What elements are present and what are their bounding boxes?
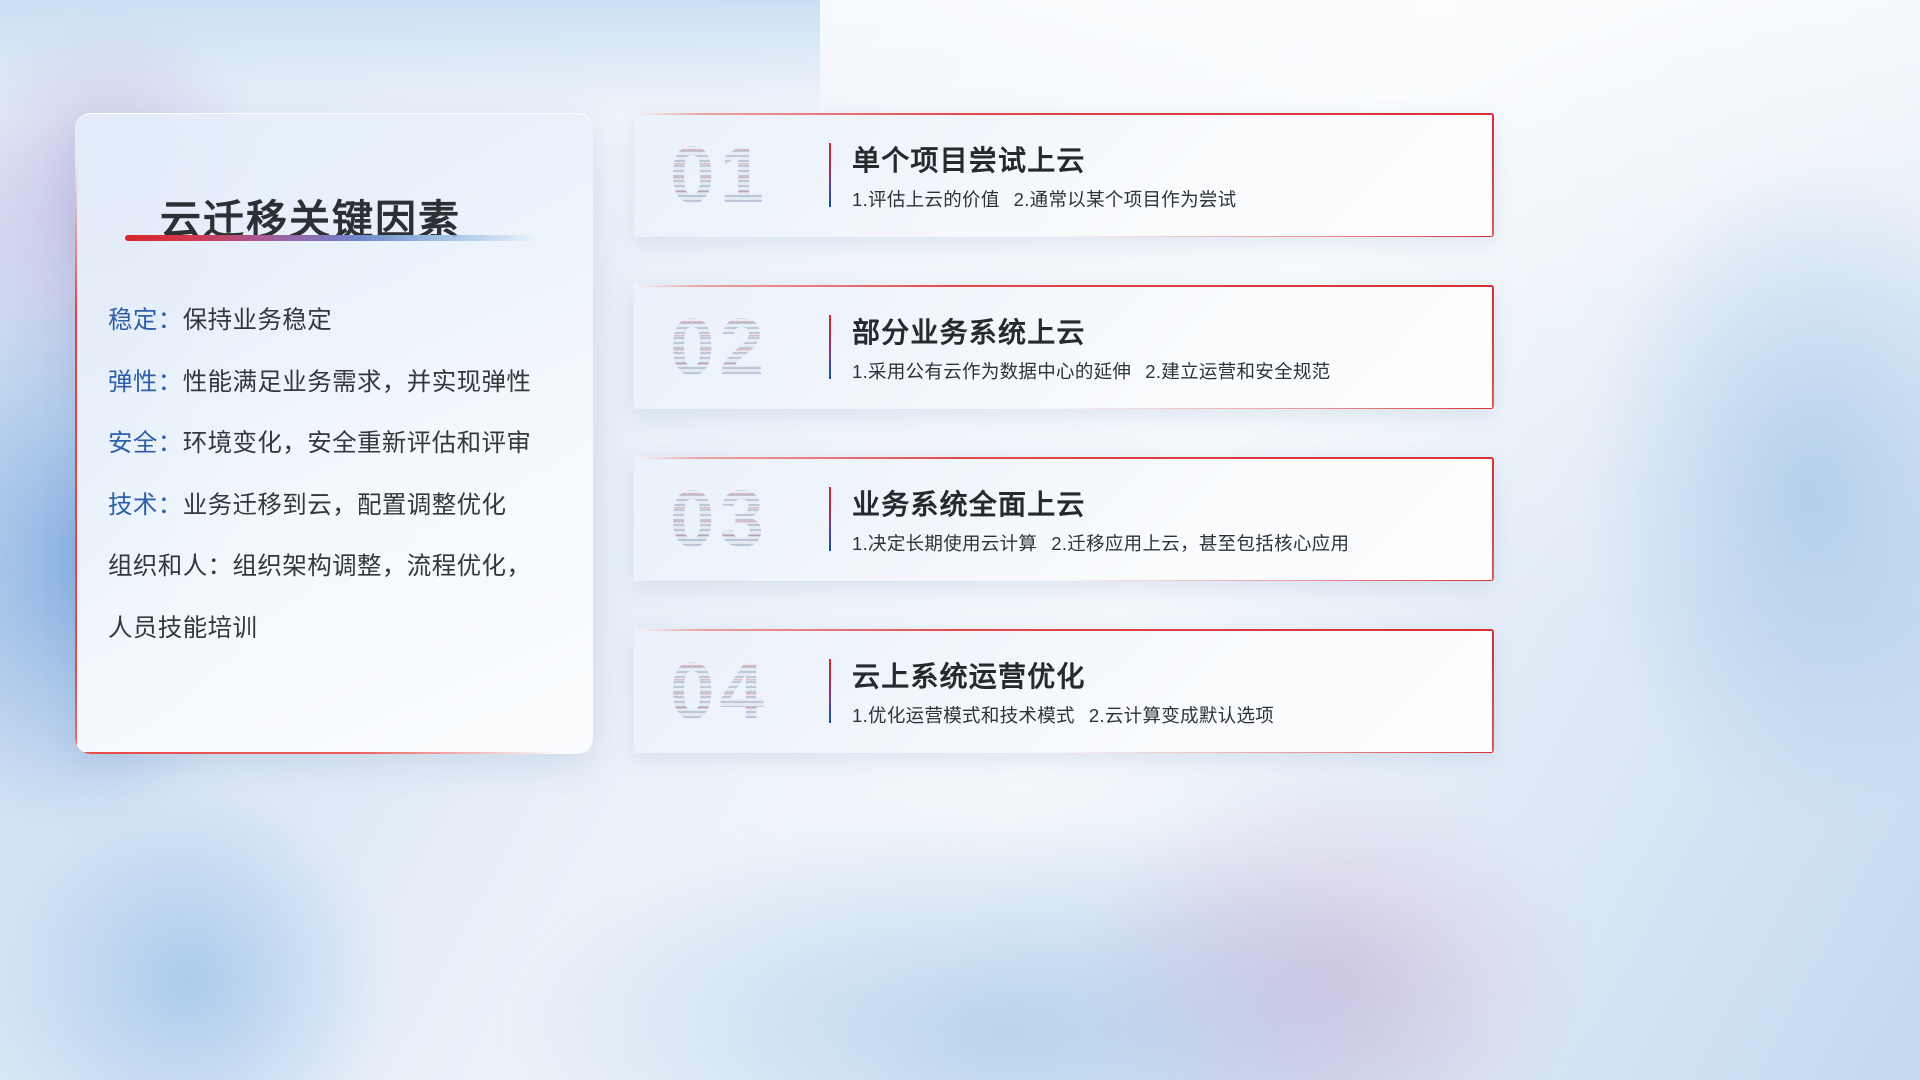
stage-number-01: 01 <box>670 135 769 215</box>
stage-title: 部分业务系统上云 <box>852 311 1086 351</box>
list-item-label: 稳定： <box>108 307 183 334</box>
card-right-accent-line <box>1492 285 1494 409</box>
list-item: 技术：业务迁移到云，配置调整优化 <box>108 494 573 519</box>
key-factors-list: 稳定：保持业务稳定 弹性：性能满足业务需求，并实现弹性 安全：环境变化，安全重新… <box>108 309 573 641</box>
card-divider-bar <box>829 315 831 379</box>
list-item-value: 保持业务稳定 <box>183 307 332 334</box>
stage-card-04[interactable]: 04 04 云上系统运营优化 1.优化运营模式和技术模式2.云计算变成默认选项 <box>634 629 1494 753</box>
stage-desc-part-2: 2.迁移应用上云，甚至包括核心应用 <box>1051 533 1349 554</box>
stage-title: 单个项目尝试上云 <box>852 139 1086 179</box>
stage-title: 业务系统全面上云 <box>852 483 1086 523</box>
stage-description: 1.评估上云的价值2.通常以某个项目作为尝试 <box>852 186 1236 212</box>
stage-desc-part-2: 2.云计算变成默认选项 <box>1089 705 1274 726</box>
panel-top-highlight <box>75 113 593 114</box>
card-bottom-accent-line <box>1047 580 1494 581</box>
card-right-accent-line <box>1492 113 1494 237</box>
stage-number-03: 03 <box>670 479 769 559</box>
card-bottom-accent-line <box>1047 408 1494 409</box>
list-item: 安全：环境变化，安全重新评估和评审 <box>108 432 573 457</box>
title-underline-gradient <box>125 235 539 241</box>
stage-card-03[interactable]: 03 03 业务系统全面上云 1.决定长期使用云计算2.迁移应用上云，甚至包括核… <box>634 457 1494 581</box>
list-item-label: 安全： <box>108 430 183 457</box>
list-item-value: 业务迁移到云，配置调整优化 <box>183 492 507 519</box>
panel-left-accent-bar <box>75 159 77 754</box>
list-item: 稳定：保持业务稳定 <box>108 309 573 334</box>
card-divider-bar <box>829 143 831 207</box>
stage-card-01[interactable]: 01 01 单个项目尝试上云 1.评估上云的价值2.通常以某个项目作为尝试 <box>634 113 1494 237</box>
stage-title: 云上系统运营优化 <box>852 655 1086 695</box>
stage-description: 1.采用公有云作为数据中心的延伸2.建立运营和安全规范 <box>852 358 1330 384</box>
card-right-accent-line <box>1492 629 1494 753</box>
list-item-value: 人员技能培训 <box>108 615 257 642</box>
list-item-label: 弹性： <box>108 369 183 396</box>
stage-desc-part-2: 2.通常以某个项目作为尝试 <box>1014 189 1237 210</box>
stage-description: 1.决定长期使用云计算2.迁移应用上云，甚至包括核心应用 <box>852 530 1349 556</box>
card-bottom-accent-line <box>1047 752 1494 753</box>
stage-desc-part-1: 1.优化运营模式和技术模式 <box>852 705 1075 726</box>
card-bottom-accent-line <box>1047 236 1494 237</box>
key-factors-panel: 云迁移关键因素 稳定：保持业务稳定 弹性：性能满足业务需求，并实现弹性 安全：环… <box>75 113 593 754</box>
stage-number-02: 02 <box>670 307 769 387</box>
stage-number-04: 04 <box>670 651 769 731</box>
card-top-accent-line <box>634 629 1494 631</box>
list-item: 组织和人：组织架构调整，流程优化， <box>108 555 573 580</box>
list-item: 弹性：性能满足业务需求，并实现弹性 <box>108 371 573 396</box>
card-top-accent-line <box>634 457 1494 459</box>
list-item-label: 组织和人： <box>108 553 233 580</box>
stage-desc-part-1: 1.决定长期使用云计算 <box>852 533 1037 554</box>
card-divider-bar <box>829 659 831 723</box>
card-top-accent-line <box>634 113 1494 115</box>
stage-card-02[interactable]: 02 02 部分业务系统上云 1.采用公有云作为数据中心的延伸2.建立运营和安全… <box>634 285 1494 409</box>
stage-desc-part-1: 1.评估上云的价值 <box>852 189 1000 210</box>
panel-bottom-accent-bar <box>75 752 559 754</box>
slide-canvas: 云迁移关键因素 稳定：保持业务稳定 弹性：性能满足业务需求，并实现弹性 安全：环… <box>0 0 1920 1080</box>
card-top-accent-line <box>634 285 1494 287</box>
stage-desc-part-1: 1.采用公有云作为数据中心的延伸 <box>852 361 1131 382</box>
card-right-accent-line <box>1492 457 1494 581</box>
list-item-continuation: 人员技能培训 <box>108 617 573 642</box>
card-divider-bar <box>829 487 831 551</box>
stage-desc-part-2: 2.建立运营和安全规范 <box>1145 361 1330 382</box>
stage-description: 1.优化运营模式和技术模式2.云计算变成默认选项 <box>852 702 1274 728</box>
list-item-label: 技术： <box>108 492 183 519</box>
list-item-value: 性能满足业务需求，并实现弹性 <box>183 369 532 396</box>
list-item-value: 组织架构调整，流程优化， <box>233 553 532 580</box>
list-item-value: 环境变化，安全重新评估和评审 <box>183 430 532 457</box>
